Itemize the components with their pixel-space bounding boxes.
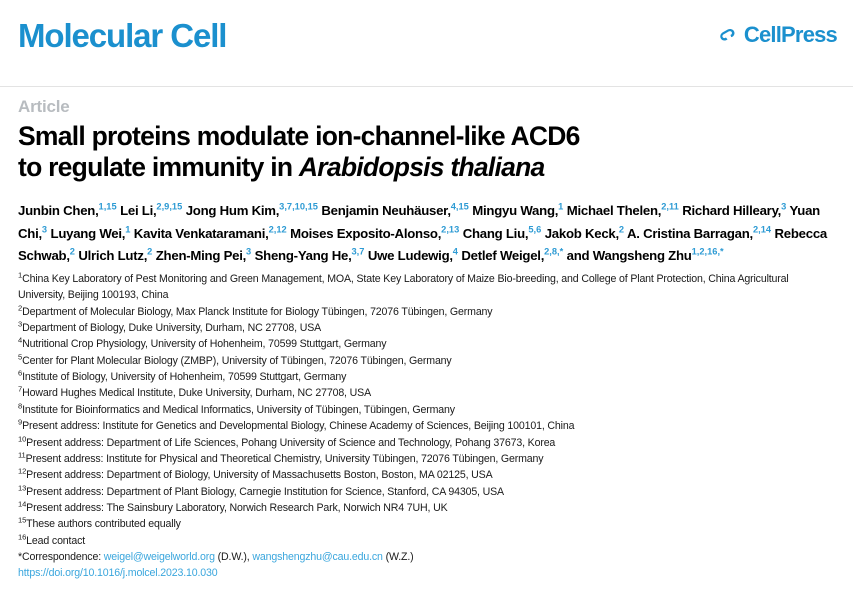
cellpress-swirl-icon	[718, 25, 739, 46]
author-entry: Uwe Ludewig,4	[368, 248, 458, 263]
author-name: Richard Hilleary,	[682, 203, 781, 218]
affiliation-item: 2Department of Molecular Biology, Max Pl…	[18, 304, 835, 320]
author-affiliation-markers: 1	[558, 202, 563, 212]
author-entry: Zhen-Ming Pei,3	[156, 248, 251, 263]
affiliation-text: Department of Biology, Duke University, …	[22, 322, 321, 334]
affiliation-text: Institute for Bioinformatics and Medical…	[22, 404, 455, 416]
author-name: Zhen-Ming Pei,	[156, 248, 246, 263]
affiliation-text: Present address: Department of Plant Bio…	[26, 486, 504, 498]
affiliation-item: 7Howard Hughes Medical Institute, Duke U…	[18, 385, 835, 401]
affiliation-item: 12Present address: Department of Biology…	[18, 467, 835, 483]
affiliation-list: 1China Key Laboratory of Pest Monitoring…	[0, 271, 853, 549]
affiliation-item: 15These authors contributed equally	[18, 516, 835, 532]
author-entry: and Wangsheng Zhu1,2,16,*	[567, 248, 724, 263]
author-affiliation-markers: 2	[619, 224, 624, 234]
author-entry: Ulrich Lutz,2	[78, 248, 152, 263]
affiliation-item: 3Department of Biology, Duke University,…	[18, 320, 835, 336]
affiliation-item: 10Present address: Department of Life Sc…	[18, 435, 835, 451]
author-name: Uwe Ludewig,	[368, 248, 453, 263]
author-entry: Mingyu Wang,1	[472, 203, 563, 218]
affiliation-text: Lead contact	[26, 535, 85, 547]
correspondence-line: *Correspondence: weigel@weigelworld.org …	[0, 549, 853, 565]
author-entry: Luyang Wei,1	[51, 226, 131, 241]
affiliation-text: These authors contributed equally	[26, 518, 181, 530]
corresponding-email-zhu[interactable]: wangshengzhu@cau.edu.cn	[252, 551, 382, 563]
affiliation-item: 16Lead contact	[18, 533, 835, 549]
author-affiliation-markers: 2,9,15	[156, 202, 182, 212]
author-affiliation-markers: 4,15	[451, 202, 469, 212]
author-entry: Detlef Weigel,2,8,*	[461, 248, 563, 263]
author-name: Mingyu Wang,	[472, 203, 558, 218]
author-affiliation-markers: 4	[453, 246, 458, 256]
author-name: Sheng-Yang He,	[255, 248, 352, 263]
title-line-2-prefix: to regulate immunity in	[18, 152, 299, 182]
corresponding-email-weigel[interactable]: weigel@weigelworld.org	[104, 551, 215, 563]
author-name: Kavita Venkataramani,	[134, 226, 269, 241]
author-name: Chang Liu,	[463, 226, 529, 241]
author-entry: Sheng-Yang He,3,7	[255, 248, 365, 263]
affiliation-marker: 15	[18, 516, 26, 525]
affiliation-text: Present address: Department of Life Scie…	[26, 437, 555, 449]
corresponding-initials-wz: (W.Z.)	[383, 551, 414, 563]
affiliation-text: Present address: Department of Biology, …	[26, 469, 492, 481]
author-name: Lei Li,	[120, 203, 156, 218]
author-entry: Jong Hum Kim,3,7,10,15	[186, 203, 318, 218]
doi-link[interactable]: https://doi.org/10.1016/j.molcel.2023.10…	[18, 567, 218, 579]
author-entry: Benjamin Neuhäuser,4,15	[321, 203, 468, 218]
affiliation-marker: 11	[18, 450, 26, 459]
affiliation-item: 14Present address: The Sainsbury Laborat…	[18, 500, 835, 516]
author-name: Jong Hum Kim,	[186, 203, 279, 218]
author-affiliation-markers: 3	[246, 246, 251, 256]
affiliation-text: Present address: Institute for Physical …	[26, 453, 544, 465]
affiliation-marker: 14	[18, 499, 26, 508]
author-entry: Jakob Keck,2	[545, 226, 624, 241]
author-affiliation-markers: 2,12	[269, 224, 287, 234]
correspondence-label: *Correspondence:	[18, 551, 104, 563]
author-affiliation-markers: 3,7	[352, 246, 365, 256]
doi-line: https://doi.org/10.1016/j.molcel.2023.10…	[0, 565, 853, 581]
article-header: Article Small proteins modulate ion-chan…	[0, 88, 853, 183]
author-affiliation-markers: 1,2,16,*	[692, 246, 724, 256]
affiliation-item: 13Present address: Department of Plant B…	[18, 484, 835, 500]
author-affiliation-markers: 2,13	[441, 224, 459, 234]
affiliation-item: 6Institute of Biology, University of Hoh…	[18, 369, 835, 385]
affiliation-item: 1China Key Laboratory of Pest Monitoring…	[18, 271, 835, 304]
affiliation-text: Institute of Biology, University of Hohe…	[22, 371, 346, 383]
affiliation-item: 11Present address: Institute for Physica…	[18, 451, 835, 467]
publisher-logo[interactable]: CellPress	[718, 24, 837, 46]
author-affiliation-markers: 2,14	[753, 224, 771, 234]
affiliation-text: Present address: The Sainsbury Laborator…	[26, 502, 447, 514]
author-affiliation-markers: 2	[70, 246, 75, 256]
author-name: A. Cristina Barragan,	[627, 226, 753, 241]
affiliation-text: Department of Molecular Biology, Max Pla…	[22, 306, 492, 318]
author-entry: Michael Thelen,2,11	[567, 203, 679, 218]
masthead: Molecular Cell CellPress	[0, 0, 853, 88]
affiliation-marker: 16	[18, 532, 26, 541]
author-entry: Chang Liu,5,6	[463, 226, 542, 241]
title-line-1: Small proteins modulate ion-channel-like…	[18, 121, 580, 151]
author-list: Junbin Chen,1,15 Lei Li,2,9,15 Jong Hum …	[0, 200, 853, 267]
affiliation-text: Present address: Institute for Genetics …	[22, 420, 574, 432]
author-entry: Richard Hilleary,3	[682, 203, 786, 218]
author-entry: Moises Exposito-Alonso,2,13	[290, 226, 459, 241]
affiliation-item: 4Nutritional Crop Physiology, University…	[18, 336, 835, 352]
author-name: Ulrich Lutz,	[78, 248, 147, 263]
author-affiliation-markers: 1,15	[99, 202, 117, 212]
author-name: Benjamin Neuhäuser,	[321, 203, 450, 218]
author-name: Jakob Keck,	[545, 226, 619, 241]
page-title: Small proteins modulate ion-channel-like…	[18, 121, 835, 183]
author-name: Moises Exposito-Alonso,	[290, 226, 441, 241]
author-affiliation-markers: 2,8,*	[544, 246, 563, 256]
author-entry: A. Cristina Barragan,2,14	[627, 226, 771, 241]
journal-logo[interactable]: Molecular Cell	[18, 19, 226, 52]
author-name: Michael Thelen,	[567, 203, 661, 218]
corresponding-initials-dw: (D.W.),	[215, 551, 253, 563]
publisher-name: CellPress	[744, 24, 837, 46]
title-species-name: Arabidopsis thaliana	[299, 152, 545, 182]
affiliation-item: 5Center for Plant Molecular Biology (ZMB…	[18, 353, 835, 369]
author-name: and Wangsheng Zhu	[567, 248, 692, 263]
affiliation-item: 8Institute for Bioinformatics and Medica…	[18, 402, 835, 418]
author-entry: Kavita Venkataramani,2,12	[134, 226, 287, 241]
affiliation-marker: 12	[18, 467, 26, 476]
author-affiliation-markers: 3	[42, 224, 47, 234]
author-name: Luyang Wei,	[51, 226, 126, 241]
author-affiliation-markers: 2,11	[661, 202, 679, 212]
author-entry: Junbin Chen,1,15	[18, 203, 117, 218]
author-affiliation-markers: 5,6	[528, 224, 541, 234]
author-name: Junbin Chen,	[18, 203, 99, 218]
affiliation-marker: 13	[18, 483, 26, 492]
affiliation-text: China Key Laboratory of Pest Monitoring …	[18, 273, 789, 301]
masthead-divider	[0, 86, 853, 87]
affiliation-text: Nutritional Crop Physiology, University …	[22, 338, 386, 350]
affiliation-item: 9Present address: Institute for Genetics…	[18, 418, 835, 434]
affiliation-text: Howard Hughes Medical Institute, Duke Un…	[22, 387, 371, 399]
affiliation-marker: 10	[18, 434, 26, 443]
author-name: Detlef Weigel,	[461, 248, 544, 263]
author-affiliation-markers: 1	[125, 224, 130, 234]
article-type-label: Article	[18, 97, 835, 117]
affiliation-text: Center for Plant Molecular Biology (ZMBP…	[22, 355, 452, 367]
author-affiliation-markers: 3,7,10,15	[279, 202, 318, 212]
author-affiliation-markers: 2	[147, 246, 152, 256]
author-affiliation-markers: 3	[781, 202, 786, 212]
author-entry: Lei Li,2,9,15	[120, 203, 182, 218]
